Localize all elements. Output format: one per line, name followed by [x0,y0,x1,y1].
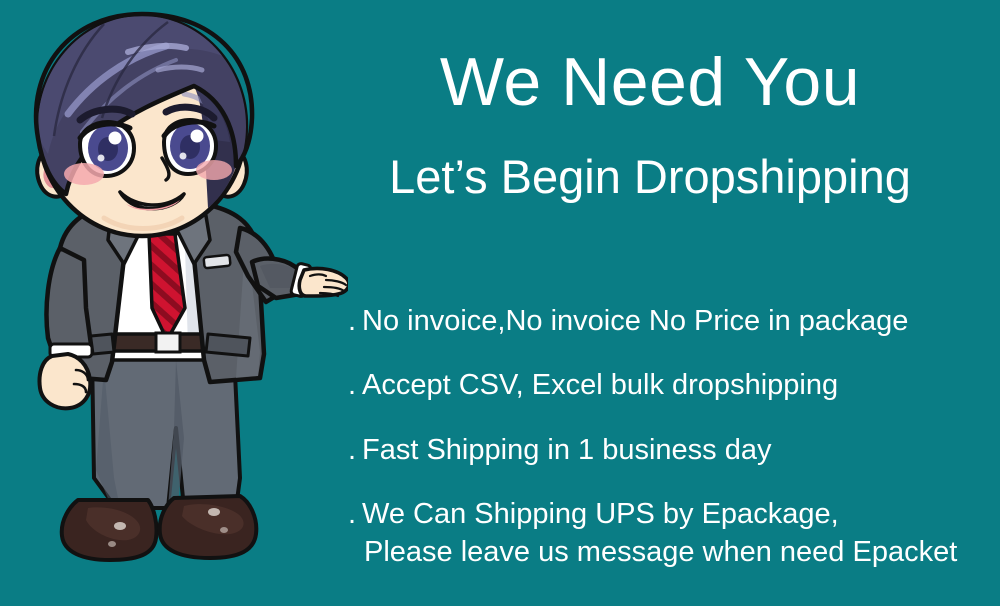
headline: We Need You [340,48,960,116]
blush-right [196,160,232,180]
lapel-pin [204,255,231,269]
promo-banner: We Need You Let’s Begin Dropshipping .No… [0,0,1000,606]
chibi-businessman-illustration [8,8,348,600]
list-item-text: No invoice,No invoice No Price in packag… [362,305,908,337]
feature-list: .No invoice,No invoice No Price in packa… [348,302,988,571]
list-item-text: Fast Shipping in 1 business day [362,434,771,466]
bullet-marker: . [348,431,362,469]
list-item: .We Can Shipping UPS by Epackage, Please… [348,495,988,572]
list-item-text: We Can Shipping UPS by Epackage, [362,498,839,530]
bullet-marker: . [348,366,362,404]
list-item-text-line2: Please leave us message when need Epacke… [348,533,988,571]
list-item: .No invoice,No invoice No Price in packa… [348,302,988,340]
blush-left [64,163,104,185]
list-item: .Fast Shipping in 1 business day [348,431,988,469]
list-item-text: Accept CSV, Excel bulk dropshipping [362,369,838,401]
head [36,14,252,236]
bullet-marker: . [348,302,362,340]
left-arm [40,248,93,408]
text-block: We Need You Let’s Begin Dropshipping .No… [340,0,1000,606]
bullet-marker: . [348,495,362,533]
character-group [36,14,348,560]
subheadline: Let’s Begin Dropshipping [340,153,960,200]
list-item: .Accept CSV, Excel bulk dropshipping [348,366,988,404]
